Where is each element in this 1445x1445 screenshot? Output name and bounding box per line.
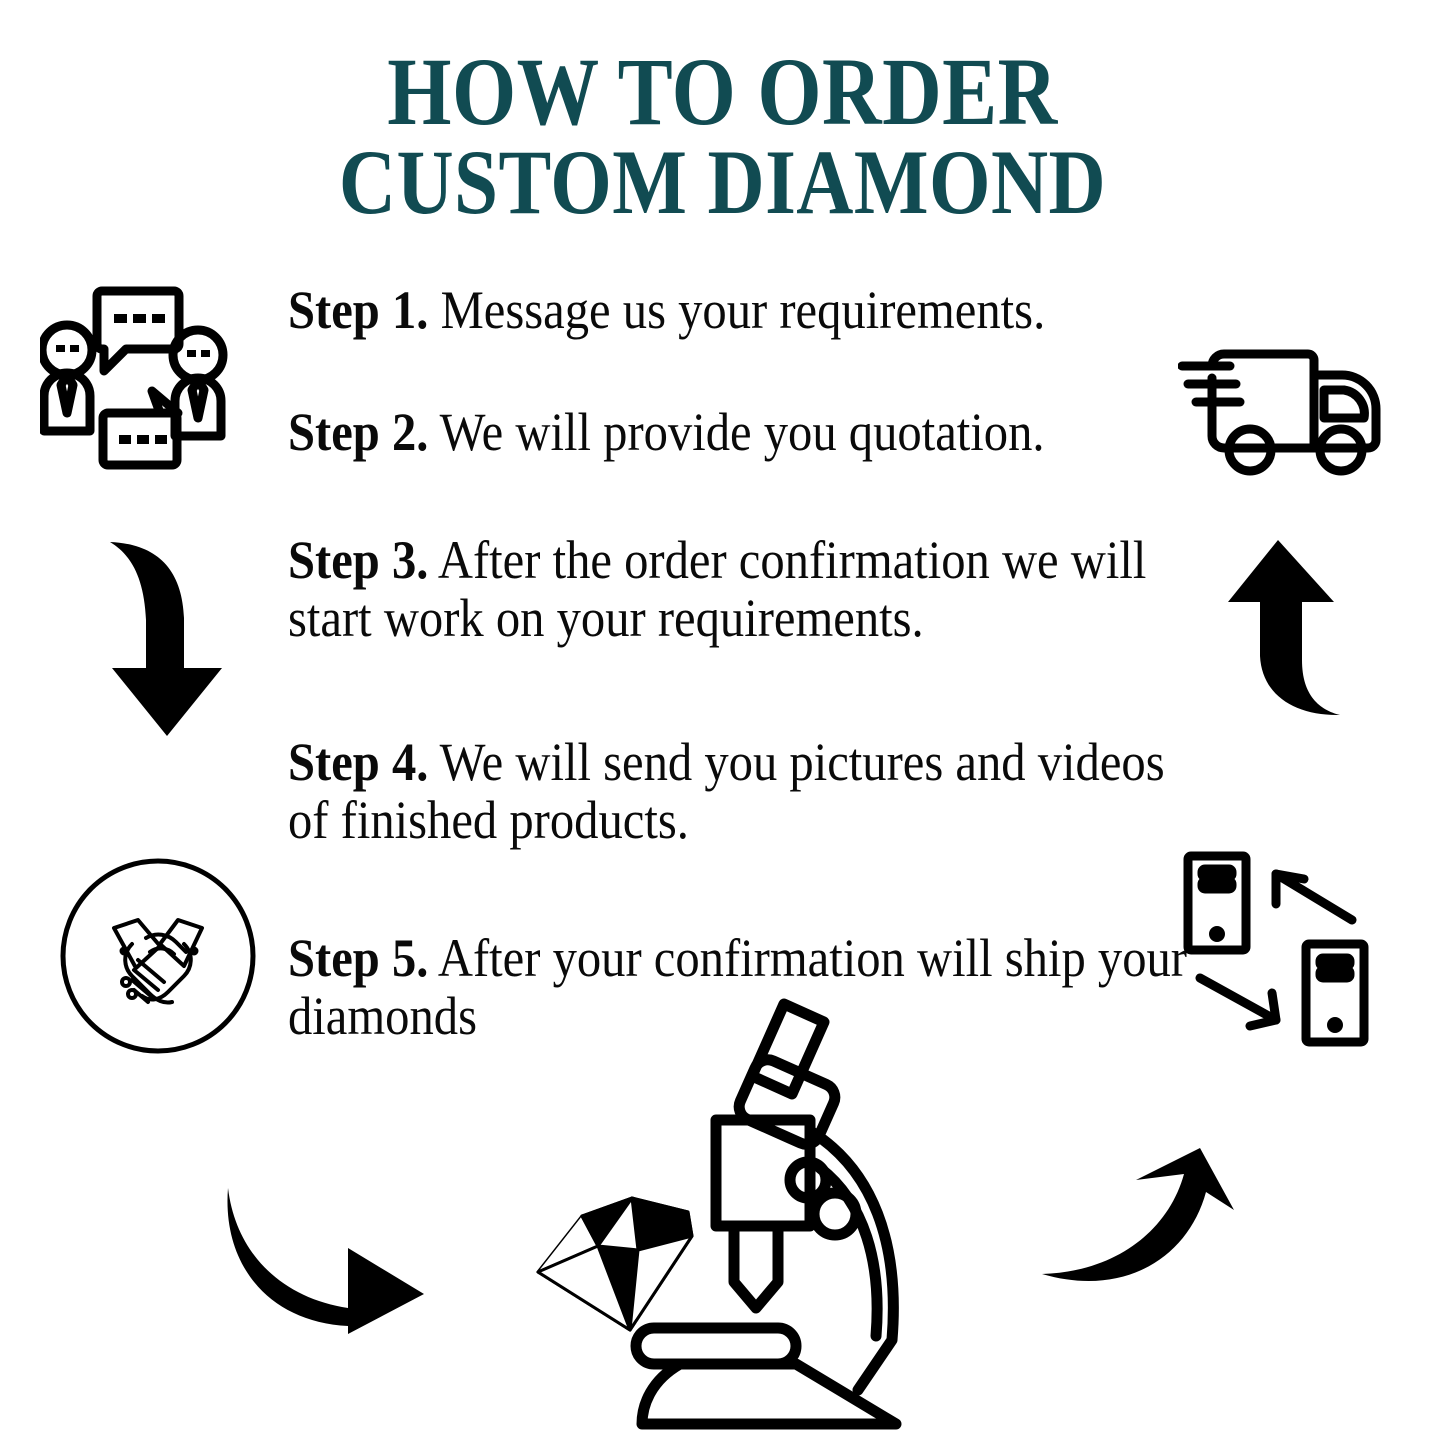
microscope-diamond-icon: [520, 980, 940, 1445]
step-1-text: Message us your requirements.: [428, 280, 1045, 340]
step-2-lead: Step 2.: [288, 402, 428, 462]
step-2-text: We will provide you quotation.: [428, 402, 1044, 462]
step-1-lead: Step 1.: [288, 280, 428, 340]
step-item-2: Step 2. We will provide you quotation.: [288, 403, 1045, 461]
step-item-3: Step 3. After the order confirmation we …: [288, 531, 1188, 648]
page-title: HOW TO ORDER CUSTOM DIAMOND: [0, 48, 1445, 225]
step-item-4: Step 4. We will send you pictures and vi…: [288, 733, 1188, 850]
step-5-lead: Step 5.: [288, 928, 428, 988]
step-3-lead: Step 3.: [288, 530, 428, 590]
curved-down-arrow-icon: [104, 534, 234, 744]
step-item-1: Step 1. Message us your requirements.: [288, 281, 1045, 339]
devices-exchange-icon: [1172, 848, 1388, 1053]
title-line-1: HOW TO ORDER: [101, 48, 1344, 136]
curved-up-arrow-icon: [1218, 536, 1344, 721]
infographic-canvas: HOW TO ORDER CUSTOM DIAMOND Step 1. Mess…: [0, 0, 1445, 1445]
handshake-circle-icon: [58, 856, 258, 1056]
step-4-lead: Step 4.: [288, 732, 428, 792]
title-line-2: CUSTOM DIAMOND: [101, 140, 1344, 225]
people-chat-icon: [40, 283, 245, 473]
curved-up-right-arrow-icon: [1028, 1146, 1250, 1314]
delivery-truck-icon: [1178, 330, 1396, 480]
curved-right-arrow-icon: [210, 1186, 435, 1336]
